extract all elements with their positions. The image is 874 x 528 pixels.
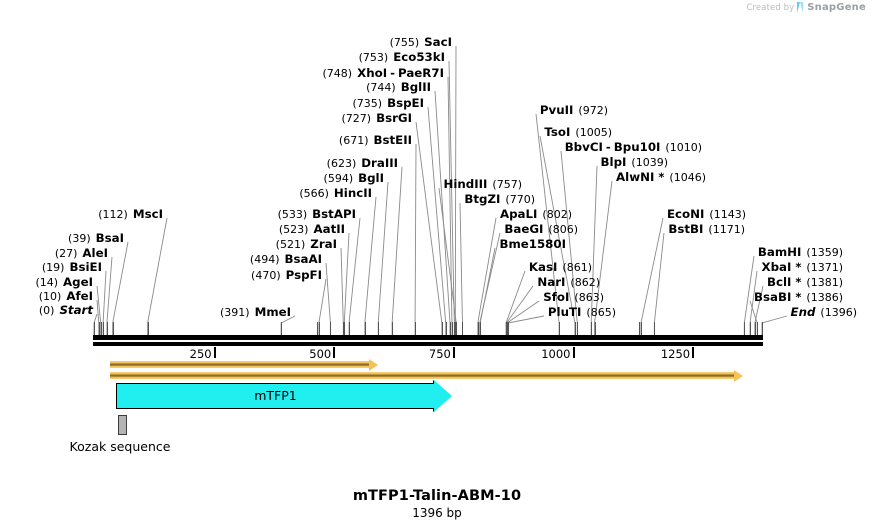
leader-line: [415, 144, 416, 335]
ruler-tick-mark-500: [333, 347, 335, 358]
enzyme-position: (1046): [669, 171, 706, 184]
cut-site-tick-DraIII: [392, 322, 393, 335]
enzyme-name: BsaAI: [285, 252, 323, 266]
leader-line: [448, 77, 452, 335]
enzyme-label-eco53ki[interactable]: (753)Eco53kI: [359, 51, 445, 64]
leader-line: [349, 218, 360, 335]
orange-arrow-track-1: [110, 361, 378, 368]
enzyme-label-xbai[interactable]: XbaI *(1371): [762, 261, 844, 274]
enzyme-position: (755): [390, 36, 420, 49]
enzyme-position: (862): [570, 276, 600, 289]
cut-site-tick-BsaBI: [757, 322, 758, 335]
cut-site-tick-HincII: [365, 322, 366, 335]
enzyme-label-bgli[interactable]: (594)BglI: [324, 172, 384, 185]
enzyme-star-marker: *: [654, 170, 664, 184]
enzyme-position: (1386): [806, 291, 843, 304]
enzyme-name: AleI: [82, 246, 108, 260]
enzyme-position: (972): [578, 104, 608, 117]
enzyme-name: BsiEI: [69, 260, 102, 274]
cut-site-tick-BglI: [378, 322, 379, 335]
enzyme-name-separator: -: [390, 66, 395, 80]
leader-line: [508, 316, 544, 335]
leader-line: [641, 218, 663, 335]
enzyme-name: Eco53kI: [393, 50, 445, 64]
enzyme-name: End: [791, 305, 816, 319]
enzyme-label-start[interactable]: (0)Start: [39, 304, 93, 317]
enzyme-name: MscI: [133, 207, 163, 221]
enzyme-star-marker: *: [791, 290, 801, 304]
enzyme-position: (861): [562, 261, 592, 274]
enzyme-name: BtgZI: [464, 192, 500, 206]
enzyme-label-pspfi[interactable]: (470)PspFI: [251, 269, 322, 282]
enzyme-position: (523): [279, 223, 309, 236]
feature-label-kozak: Kozak sequence: [70, 439, 171, 454]
cut-site-tick-BbvCI: [577, 322, 578, 335]
enzyme-position: (770): [505, 193, 535, 206]
enzyme-position: (0): [39, 304, 55, 317]
enzyme-name: HindIII: [443, 177, 487, 191]
enzyme-name: HincII: [334, 186, 372, 200]
cut-site-tick-EcoNI: [641, 322, 642, 335]
enzyme-position: (748): [323, 67, 353, 80]
enzyme-position: (533): [278, 208, 308, 221]
cut-site-tick-BsrGI: [442, 322, 443, 335]
watermark-created-by-text: Created by: [746, 3, 794, 13]
cut-site-tick-ApaLI: [478, 322, 479, 335]
cut-site-tick-Bme1580I: [480, 322, 481, 335]
cut-site-tick-AgeI: [101, 322, 102, 335]
enzyme-position: (623): [327, 157, 357, 170]
cut-site-tick-End: [762, 322, 763, 335]
enzyme-label-baegi[interactable]: BaeGI(806): [504, 223, 578, 236]
enzyme-label-saci[interactable]: (755)SacI: [390, 36, 452, 49]
feature-mtfp1[interactable]: mTFP1: [116, 383, 452, 409]
enzyme-name: BsrGI: [376, 111, 412, 125]
enzyme-position: (1381): [806, 276, 843, 289]
cut-site-tick-PflMI: [317, 322, 318, 335]
enzyme-position: (806): [548, 223, 578, 236]
enzyme-label-bsrgi[interactable]: (727)BsrGI: [342, 112, 413, 125]
cut-site-tick-XbaI: [750, 322, 751, 335]
enzyme-position: (753): [359, 51, 389, 64]
enzyme-label-pvuii[interactable]: PvuII(972): [540, 104, 608, 117]
leader-line: [762, 316, 787, 335]
enzyme-label-msci[interactable]: (112)MscI: [98, 208, 163, 221]
enzyme-name: BglII: [401, 80, 431, 94]
enzyme-name: Bpu10I: [614, 140, 661, 154]
enzyme-position: (757): [492, 178, 522, 191]
enzyme-position: (470): [251, 269, 281, 282]
leader-line: [654, 233, 664, 335]
leader-line: [113, 242, 128, 335]
sequence-bar-bottom: [93, 342, 763, 346]
cut-site-tick-BstBI: [654, 322, 655, 335]
enzyme-position: (1005): [575, 126, 612, 139]
feature-arrow-tip: [434, 380, 452, 412]
enzyme-position: (594): [324, 172, 354, 185]
cut-site-tick-BsaI: [113, 322, 114, 335]
leader-line: [319, 279, 326, 335]
enzyme-position: (802): [542, 208, 572, 221]
enzyme-name: Bme1580I: [499, 237, 566, 251]
cut-site-tick-XhoI: [452, 322, 453, 335]
enzyme-label-btgzi[interactable]: BtgZI(770): [464, 193, 535, 206]
cut-site-tick-BlpI: [591, 322, 592, 335]
enzyme-position: (10): [39, 290, 62, 303]
enzyme-label-mmei[interactable]: (391)MmeI: [220, 306, 291, 319]
enzyme-label-bsabi[interactable]: BsaBI *(1386): [754, 291, 843, 304]
cut-site-tick-MscI: [148, 322, 149, 335]
enzyme-label-apali[interactable]: ApaLI(802): [500, 208, 572, 221]
enzyme-name: BglI: [358, 171, 384, 185]
leader-line: [365, 197, 376, 335]
cut-site-tick-BglII: [450, 322, 451, 335]
cut-site-tick-MmeI: [281, 322, 282, 335]
enzyme-position: (1143): [709, 208, 746, 221]
leader-line: [378, 182, 388, 335]
enzyme-position: (735): [353, 97, 383, 110]
enzyme-label-hindiii[interactable]: HindIII(757): [443, 178, 522, 191]
leader-line: [480, 248, 495, 335]
enzyme-position: (14): [35, 276, 58, 289]
cut-site-tick-AleI: [107, 322, 108, 335]
cut-site-tick-Start: [94, 322, 95, 335]
cut-site-tick-BamHI: [744, 322, 745, 335]
cut-site-tick-TsoI: [575, 322, 576, 335]
enzyme-label-bbvci[interactable]: BbvCI-Bpu10I(1010): [565, 141, 702, 154]
enzyme-name: ZraI: [310, 237, 337, 251]
leader-line: [460, 203, 462, 335]
cut-site-tick-BsiEI: [103, 322, 104, 335]
ruler-tick-mark-1000: [573, 347, 575, 358]
enzyme-position: (865): [586, 306, 616, 319]
enzyme-label-agei[interactable]: (14)AgeI: [35, 276, 93, 289]
enzyme-label-draiii[interactable]: (623)DraIII: [327, 157, 398, 170]
enzyme-position: (112): [98, 208, 128, 221]
cut-site-tick-AfeI: [99, 322, 100, 335]
cut-site-tick-BtgZI: [462, 322, 463, 335]
enzyme-name: EcoNI: [667, 207, 704, 221]
enzyme-name: BstBI: [668, 222, 703, 236]
enzyme-label-bsiei[interactable]: (19)BsiEI: [42, 261, 102, 274]
snapgene-watermark: Created by SnapGene: [746, 2, 866, 13]
enzyme-name: AgeI: [63, 275, 93, 289]
enzyme-name: BstEII: [374, 133, 413, 147]
ruler-tick-mark-750: [453, 347, 455, 358]
enzyme-name: XbaI: [762, 260, 792, 274]
enzyme-label-nari[interactable]: NarI(862): [537, 276, 600, 289]
enzyme-name: BclI: [767, 275, 791, 289]
enzyme-name: KasI: [529, 260, 558, 274]
leader-line: [416, 122, 442, 335]
cut-site-tick-BspEI: [446, 322, 447, 335]
enzyme-label-bamhi[interactable]: BamHI(1359): [758, 246, 843, 259]
ruler-tick-label-750: 750: [429, 347, 451, 361]
enzyme-label-bsaai[interactable]: (494)BsaAI: [250, 253, 322, 266]
enzyme-position: (1171): [708, 223, 745, 236]
leader-line: [480, 233, 500, 335]
enzyme-name: BspEI: [387, 96, 424, 110]
enzyme-name: SfoI: [543, 290, 569, 304]
enzyme-label-pluti[interactable]: PluTI(865): [548, 306, 616, 319]
sequence-bar-top: [93, 335, 763, 340]
snapgene-logo-icon: [797, 2, 804, 13]
enzyme-name-separator: -: [606, 140, 611, 154]
enzyme-position: (1396): [820, 306, 857, 319]
leader-line: [344, 233, 349, 335]
enzyme-label-xhoi[interactable]: (748)XhoI-PaeR7I: [323, 67, 444, 80]
enzyme-name: DraIII: [361, 156, 398, 170]
cut-site-tick-BstAPI: [349, 322, 350, 335]
enzyme-name: TsoI: [544, 125, 570, 139]
ruler-tick-mark-1250: [692, 347, 694, 358]
cut-site-tick-BsaAI: [330, 322, 331, 335]
enzyme-star-marker: *: [791, 260, 801, 274]
enzyme-position: (671): [339, 134, 369, 147]
enzyme-position: (863): [574, 291, 604, 304]
enzyme-label-bstapi[interactable]: (533)BstAPI: [278, 208, 356, 221]
enzyme-name: BbvCI: [565, 140, 603, 154]
orange-arrow-shaft: [110, 372, 735, 379]
enzyme-position: (19): [42, 261, 65, 274]
ruler-tick-label-1000: 1000: [541, 347, 570, 361]
enzyme-label-sfoi[interactable]: SfoI(863): [543, 291, 604, 304]
enzyme-position: (727): [342, 112, 372, 125]
enzyme-star-marker: *: [791, 275, 801, 289]
leader-line: [428, 107, 446, 335]
leader-line: [750, 301, 757, 335]
enzyme-position: (521): [276, 238, 306, 251]
enzyme-position: (27): [55, 247, 78, 260]
page-title: mTFP1-Talin-ABM-10: [0, 488, 874, 504]
enzyme-name: SacI: [424, 35, 452, 49]
enzyme-name: ApaLI: [500, 207, 537, 221]
orange-arrow-shaft: [110, 361, 370, 368]
enzyme-label-bspei[interactable]: (735)BspEI: [353, 97, 425, 110]
enzyme-label-bsai[interactable]: (39)BsaI: [68, 232, 124, 245]
ruler-tick-label-500: 500: [309, 347, 331, 361]
enzyme-label-bglii[interactable]: (744)BglII: [366, 81, 431, 94]
enzyme-name: MmeI: [255, 305, 291, 319]
cut-site-tick-PluTI: [508, 322, 509, 335]
ruler-tick-mark-250: [214, 347, 216, 358]
enzyme-name: AatII: [313, 222, 345, 236]
enzyme-label-end[interactable]: End(1396): [791, 306, 857, 319]
enzyme-label-econi[interactable]: EcoNI(1143): [667, 208, 746, 221]
enzyme-position: (566): [299, 187, 329, 200]
leader-line: [478, 218, 496, 335]
enzyme-name: BsaBI: [754, 290, 791, 304]
page-subtitle: 1396 bp: [0, 506, 874, 520]
enzyme-name: PluTI: [548, 305, 582, 319]
enzyme-label-bstbi[interactable]: BstBI(1171): [668, 223, 745, 236]
orange-arrow-track-2: [110, 372, 743, 379]
enzyme-name: PvuII: [540, 103, 574, 117]
enzyme-position: (744): [366, 81, 396, 94]
ruler-tick-label-250: 250: [190, 347, 212, 361]
leader-line: [449, 61, 454, 335]
enzyme-label-afei[interactable]: (10)AfeI: [39, 290, 93, 303]
leader-line: [507, 301, 539, 335]
feature-label-mtfp1: mTFP1: [116, 383, 435, 409]
enzyme-name: BamHI: [758, 245, 802, 259]
leader-line: [439, 188, 456, 335]
leader-line: [506, 286, 533, 335]
enzyme-label-kasi[interactable]: KasI(861): [529, 261, 592, 274]
enzyme-name: PaeR7I: [398, 66, 444, 80]
enzyme-name: AlwNI: [616, 170, 654, 184]
sequence-map: Created by SnapGene (0)Start(10)AfeI(14)…: [0, 0, 874, 528]
cut-site-tick-HindIII: [456, 322, 457, 335]
cut-site-tick-PvuII: [559, 322, 560, 335]
enzyme-position: (1359): [806, 246, 843, 259]
enzyme-name: Start: [59, 303, 93, 317]
cut-site-tick-BclI: [755, 322, 756, 335]
enzyme-name: BsaI: [96, 231, 124, 245]
enzyme-name: NarI: [537, 275, 565, 289]
enzyme-position: (391): [220, 306, 250, 319]
enzyme-label-alei[interactable]: (27)AleI: [55, 247, 108, 260]
enzyme-name: BaeGI: [504, 222, 543, 236]
cut-site-tick-AatII: [344, 322, 345, 335]
cut-site-tick-BstEII: [415, 322, 416, 335]
enzyme-name: PspFI: [286, 268, 322, 282]
orange-arrow-head: [369, 359, 378, 371]
ruler-tick-label-1250: 1250: [661, 347, 690, 361]
enzyme-name: BlpI: [601, 155, 627, 169]
cut-site-tick-PspFI: [319, 322, 320, 335]
enzyme-label-bme1580i[interactable]: Bme1580I: [499, 238, 566, 251]
enzyme-position: (1371): [806, 261, 843, 274]
leader-line: [148, 218, 167, 335]
enzyme-label-bcli[interactable]: BclI *(1381): [767, 276, 843, 289]
enzyme-label-bsteii[interactable]: (671)BstEII: [339, 134, 412, 147]
enzyme-name: XhoI: [357, 66, 387, 80]
leader-line: [392, 167, 402, 335]
enzyme-label-aatii[interactable]: (523)AatII: [279, 223, 345, 236]
feature-kozak-box[interactable]: [118, 415, 127, 435]
enzyme-label-zrai[interactable]: (521)ZraI: [276, 238, 337, 251]
cut-site-tick-CsiI: [639, 322, 640, 335]
cut-site-tick-AlwNI: [595, 322, 596, 335]
enzyme-position: (1039): [631, 156, 668, 169]
enzyme-label-hincii[interactable]: (566)HincII: [299, 187, 372, 200]
watermark-brand-text: SnapGene: [807, 2, 866, 13]
enzyme-name: AfeI: [66, 289, 93, 303]
enzyme-position: (1010): [665, 141, 702, 154]
enzyme-position: (39): [68, 232, 91, 245]
enzyme-position: (494): [250, 253, 280, 266]
leader-line: [435, 91, 450, 335]
enzyme-label-blpi[interactable]: BlpI(1039): [601, 156, 668, 169]
enzyme-label-alwni[interactable]: AlwNI *(1046): [616, 171, 706, 184]
enzyme-name: BstAPI: [312, 207, 356, 221]
orange-arrow-head: [734, 370, 743, 382]
enzyme-label-tsoi[interactable]: TsoI(1005): [544, 126, 612, 139]
